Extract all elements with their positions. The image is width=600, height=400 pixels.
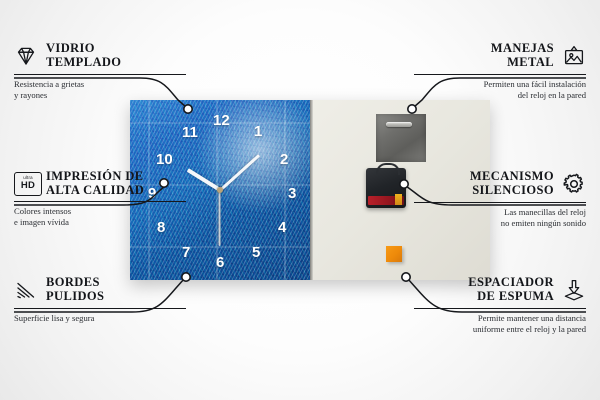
mechanism-label-band bbox=[368, 196, 404, 205]
callout-divider bbox=[14, 74, 186, 75]
infographic-canvas: 12 1 2 3 4 5 6 7 8 9 10 11 bbox=[0, 0, 600, 400]
quartz-clock-mechanism bbox=[366, 168, 406, 208]
foam-spacer-arrow-icon bbox=[562, 278, 586, 302]
clock-second-hand bbox=[219, 190, 221, 246]
ultra-hd-badge-icon: ultra HD bbox=[14, 172, 38, 196]
callout-vidrio-templado[interactable]: VIDRIO TEMPLADO Resistencia a grietas y … bbox=[14, 42, 186, 100]
foam-spacer bbox=[386, 246, 402, 262]
clock-center-pin bbox=[217, 187, 223, 193]
ultra-hd-large-text: HD bbox=[21, 181, 35, 191]
callout-header: BORDES PULIDOS bbox=[14, 276, 186, 303]
diamond-icon bbox=[14, 44, 38, 68]
callout-subtitle: Superficie lisa y segura bbox=[14, 313, 186, 323]
callout-mecanismo-silencioso[interactable]: MECANISMO SILENCIOSO Las manecillas del … bbox=[414, 170, 586, 228]
callout-header: ESPACIADOR DE ESPUMA bbox=[414, 276, 586, 303]
callout-subtitle: Permiten una fácil instalación del reloj… bbox=[414, 79, 586, 100]
callout-header: VIDRIO TEMPLADO bbox=[14, 42, 186, 69]
callout-title: BORDES PULIDOS bbox=[46, 276, 104, 303]
callout-divider bbox=[414, 202, 586, 203]
clock-numeral-11: 11 bbox=[182, 125, 198, 140]
clock-hour-hand bbox=[187, 168, 221, 192]
callout-impresion-alta-calidad[interactable]: ultra HD IMPRESIÓN DE ALTA CALIDAD Color… bbox=[14, 170, 186, 227]
callout-bordes-pulidos[interactable]: BORDES PULIDOS Superficie lisa y segura bbox=[14, 276, 186, 324]
clock-numeral-12: 12 bbox=[213, 113, 230, 128]
picture-hanger-icon bbox=[562, 44, 586, 68]
metal-hanger-plate bbox=[376, 114, 426, 162]
polished-edges-icon bbox=[14, 278, 38, 302]
callout-subtitle: Permite mantener una distancia uniforme … bbox=[414, 313, 586, 334]
callout-divider bbox=[14, 201, 186, 202]
clock-numeral-6: 6 bbox=[216, 255, 224, 270]
callout-divider bbox=[414, 308, 586, 309]
gear-icon bbox=[562, 172, 586, 196]
callout-espaciador-de-espuma[interactable]: ESPACIADOR DE ESPUMA Permite mantener un… bbox=[414, 276, 586, 334]
clock-numeral-3: 3 bbox=[288, 186, 296, 201]
callout-manejas-metal[interactable]: MANEJAS METAL Permiten una fácil instala… bbox=[414, 42, 586, 100]
clock-numeral-1: 1 bbox=[254, 124, 262, 139]
callout-title: MECANISMO SILENCIOSO bbox=[470, 170, 554, 197]
callout-divider bbox=[14, 308, 186, 309]
callout-divider bbox=[414, 74, 586, 75]
mechanism-hanger-arc bbox=[376, 163, 400, 175]
callout-subtitle: Las manecillas del reloj no emiten ningú… bbox=[414, 207, 586, 228]
callout-title: VIDRIO TEMPLADO bbox=[46, 42, 121, 69]
callout-header: ultra HD IMPRESIÓN DE ALTA CALIDAD bbox=[14, 170, 186, 197]
callout-title: ESPACIADOR DE ESPUMA bbox=[468, 276, 554, 303]
callout-header: MECANISMO SILENCIOSO bbox=[414, 170, 586, 197]
clock-numeral-7: 7 bbox=[182, 245, 190, 260]
callout-header: MANEJAS METAL bbox=[414, 42, 586, 69]
callout-subtitle: Colores intensos e imagen vívida bbox=[14, 206, 186, 227]
clock-numeral-10: 10 bbox=[156, 152, 173, 167]
callout-title: IMPRESIÓN DE ALTA CALIDAD bbox=[46, 170, 144, 197]
clock-numeral-4: 4 bbox=[278, 220, 286, 235]
clock-numeral-2: 2 bbox=[280, 152, 288, 167]
clock-numeral-5: 5 bbox=[252, 245, 260, 260]
panel-seam bbox=[310, 100, 313, 280]
clock-minute-hand bbox=[219, 154, 260, 191]
callout-title: MANEJAS METAL bbox=[491, 42, 554, 69]
callout-subtitle: Resistencia a grietas y rayones bbox=[14, 79, 186, 100]
